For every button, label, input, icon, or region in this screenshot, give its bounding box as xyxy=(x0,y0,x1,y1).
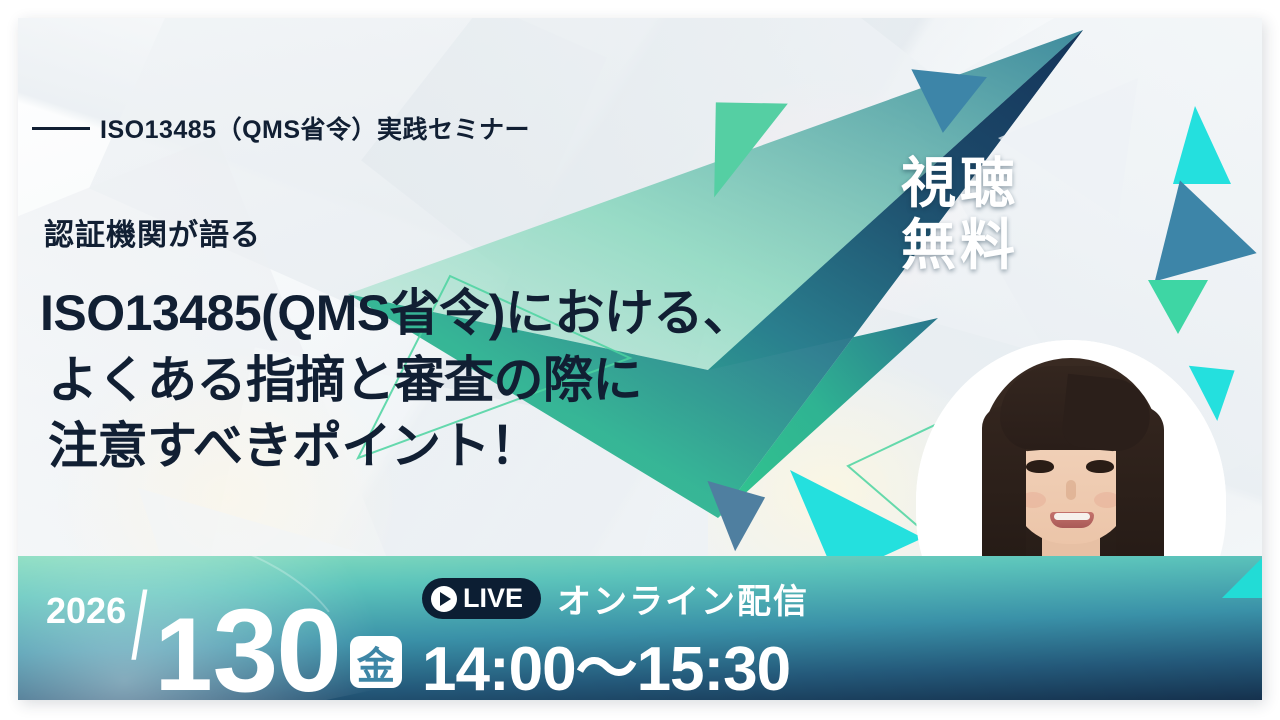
eyebrow-line: ISO13485（QMS省令）実践セミナー xyxy=(32,110,530,146)
schedule-bar: 2026 / 1 30 金 LIVE オンライン配信 14:00〜15:30 xyxy=(18,556,1262,700)
portrait-eye-right xyxy=(1086,460,1114,473)
portrait-eye-left xyxy=(1026,460,1054,473)
free-badge-line-1: 視聴 xyxy=(880,153,1040,215)
live-badge: LIVE xyxy=(422,578,541,619)
accent-triangle-blue xyxy=(905,69,987,137)
eyebrow-text: ISO13485（QMS省令）実践セミナー xyxy=(100,110,530,146)
play-triangle-icon xyxy=(440,592,451,606)
date-group: 2026 / 1 30 金 xyxy=(46,562,402,694)
headline-line-3: 注意すべきポイント！ xyxy=(40,413,752,480)
delivery-mode-label: オンライン配信 xyxy=(557,574,809,623)
month-text: 1 xyxy=(155,608,213,700)
portrait-teeth xyxy=(1054,513,1090,520)
headline-line-2: よくある指摘と審査の際に xyxy=(40,347,752,414)
accent-triangle-cyan xyxy=(1222,556,1262,598)
free-badge-line-2: 無料 xyxy=(880,215,1040,277)
play-icon xyxy=(431,586,457,612)
accent-triangle-cyan xyxy=(1173,106,1231,184)
live-row: LIVE オンライン配信 xyxy=(422,574,809,623)
day-of-week-badge: 金 xyxy=(350,636,402,688)
page-title: ISO13485(QMS省令)における、 よくある指摘と審査の際に 注意すべきポ… xyxy=(40,280,752,480)
portrait-nose xyxy=(1066,480,1076,500)
date-separator: / xyxy=(131,572,147,682)
time-range-text: 14:00〜15:30 xyxy=(422,618,790,700)
slide-stage: ISO13485（QMS省令）実践セミナー 認証機関が語る ISO13485(Q… xyxy=(0,0,1280,720)
live-label: LIVE xyxy=(463,583,523,614)
eyebrow-rule xyxy=(32,127,90,130)
free-viewing-badge: 視聴 無料 xyxy=(880,153,1040,276)
seminar-banner-slide: ISO13485（QMS省令）実践セミナー 認証機関が語る ISO13485(Q… xyxy=(18,18,1262,700)
year-text: 2026 xyxy=(46,590,126,632)
accent-triangle-green xyxy=(1148,280,1208,334)
day-text: 30 xyxy=(213,597,340,700)
headline-line-1: ISO13485(QMS省令)における、 xyxy=(40,280,752,347)
accent-triangle-green xyxy=(714,102,788,198)
kicker-text: 認証機関が語る xyxy=(44,210,261,254)
